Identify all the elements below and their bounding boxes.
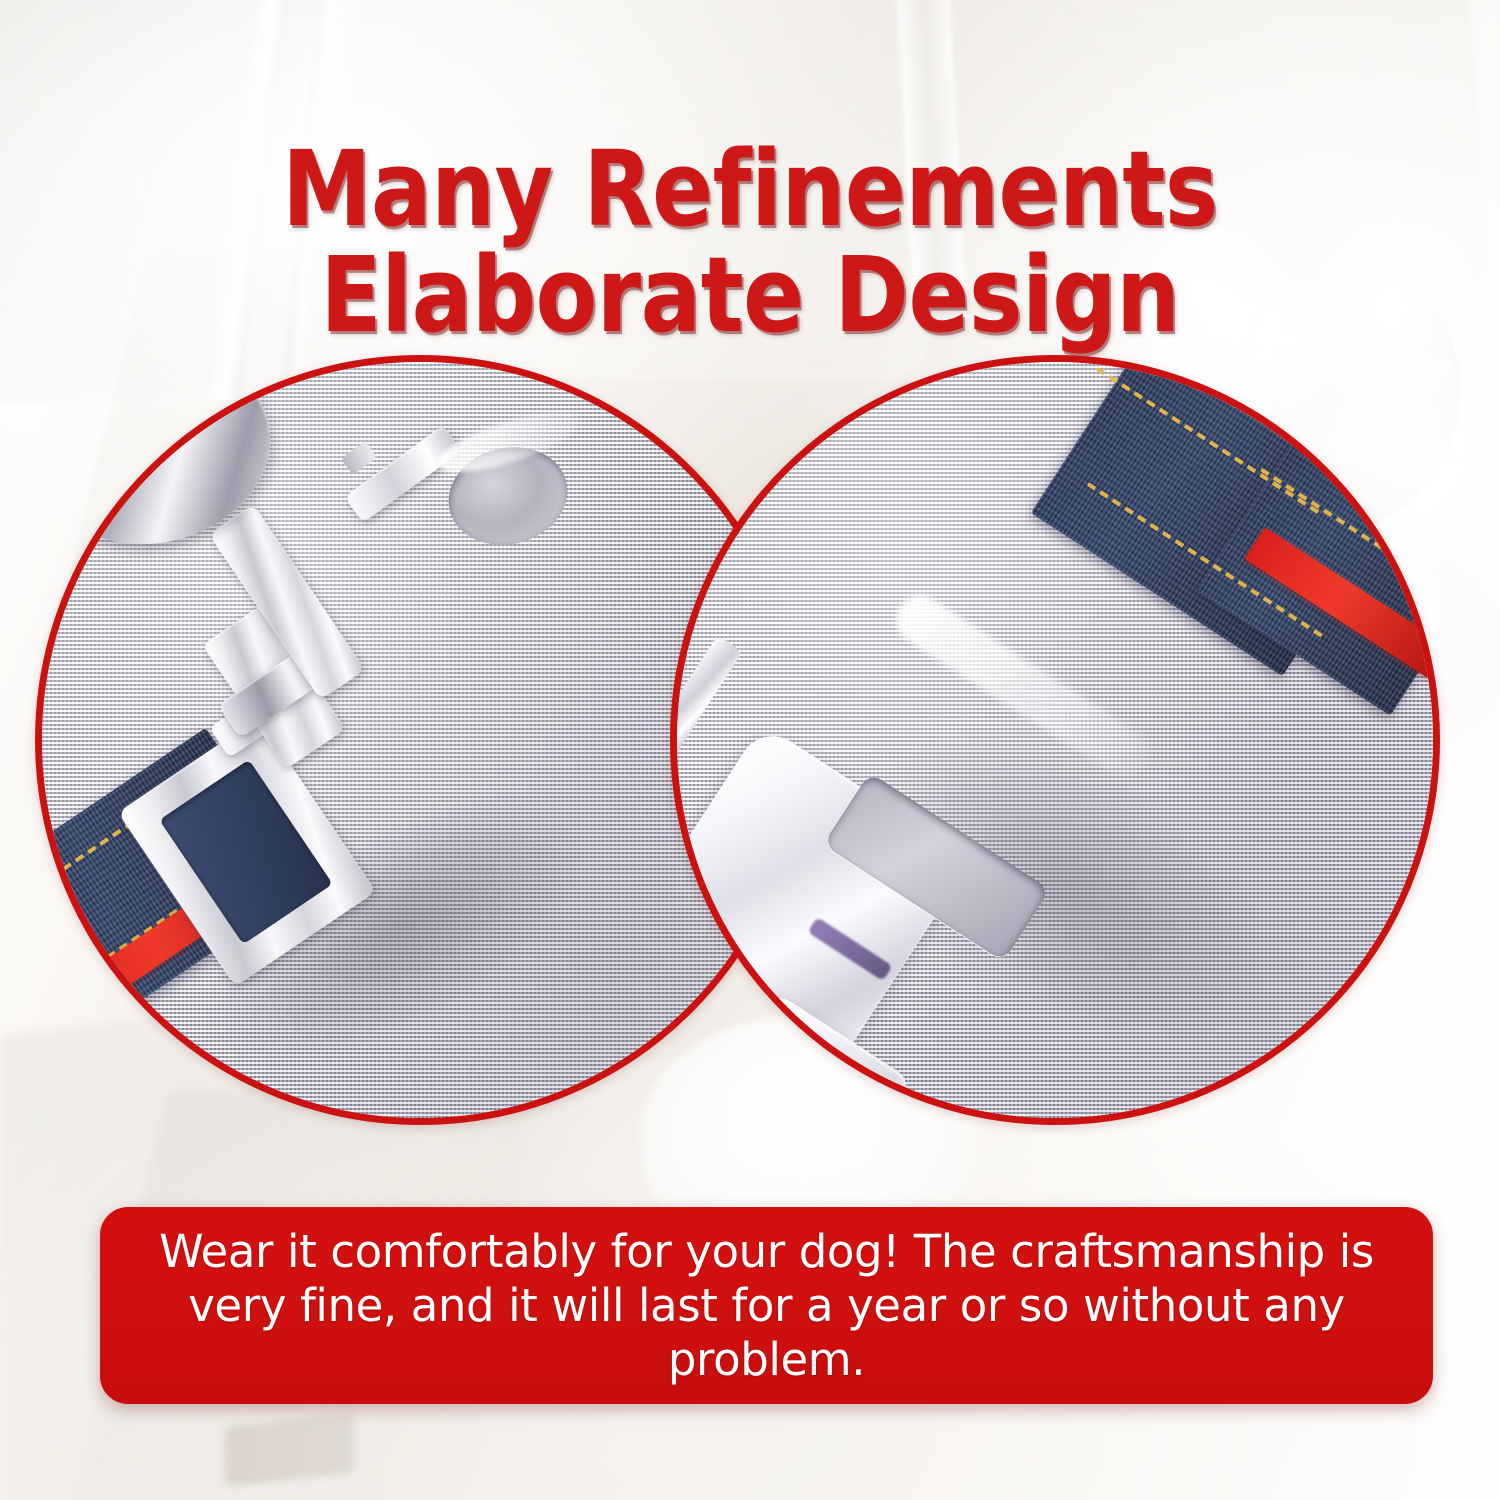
metal-slider-bar-outer	[670, 485, 749, 629]
snap-hook-gate-lever	[344, 425, 462, 523]
snap-hook-gate-notch	[341, 441, 377, 475]
buckle-tongue-neck	[670, 990, 915, 1125]
product-feature-graphic: Many Refinements Elaborate Design	[0, 0, 1500, 1500]
caption-banner: Wear it comfortably for your dog! The cr…	[100, 1207, 1433, 1404]
red-lining-right	[670, 355, 774, 491]
caption-text: Wear it comfortably for your dog! The cr…	[100, 1225, 1433, 1387]
page-title: Many Refinements Elaborate Design	[30, 136, 1470, 348]
feature-circle-right	[670, 355, 1440, 1125]
headline-line-1: Many Refinements	[282, 128, 1218, 250]
seatbelt-buckle-assembly	[677, 362, 1433, 1118]
metal-slider-bar-inner	[670, 635, 743, 769]
headline-line-2: Elaborate Design	[30, 242, 1470, 348]
